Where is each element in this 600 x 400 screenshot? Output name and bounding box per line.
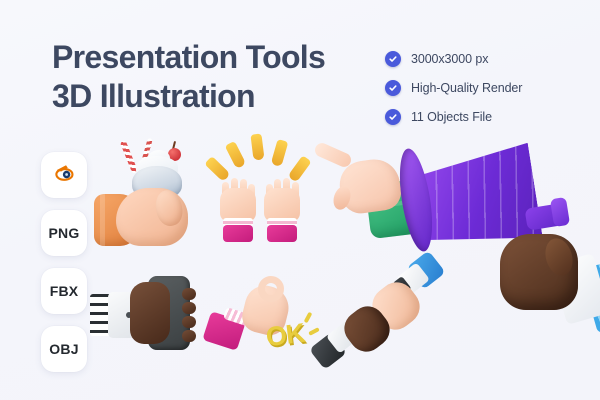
feature-label: 3000x3000 px: [411, 52, 488, 66]
poster-canvas: Presentation Tools 3D Illustration 3000x…: [0, 0, 600, 400]
illustration-grid: OK: [0, 120, 600, 390]
pink-cuff: [267, 225, 297, 242]
spark-icon: [308, 327, 320, 336]
page-title: Presentation Tools 3D Illustration: [52, 38, 325, 116]
feature-item-resolution: 3000x3000 px: [385, 46, 522, 71]
check-icon: [385, 51, 401, 67]
illustration-hand-holding-phone: [96, 270, 212, 366]
feature-item-quality: High-Quality Render: [385, 75, 522, 100]
ok-label: OK: [264, 318, 306, 353]
right-raised-hand: [264, 178, 300, 234]
pink-cuff: [223, 225, 253, 242]
palm: [220, 188, 256, 222]
finger: [182, 302, 196, 314]
illustration-ok-hand: OK: [208, 272, 324, 366]
palm: [264, 188, 300, 222]
finger: [182, 330, 196, 342]
illustration-hand-holding-sundae: [96, 138, 208, 260]
illustration-fist-bump: [322, 260, 434, 368]
celebration-ray-icon: [250, 133, 264, 160]
index-finger: [313, 141, 353, 169]
title-line-2: 3D Illustration: [52, 77, 325, 116]
finger: [182, 288, 196, 300]
title-line-1: Presentation Tools: [52, 38, 325, 77]
spark-icon: [304, 312, 313, 324]
finger: [182, 316, 196, 328]
hand: [130, 282, 170, 344]
celebration-ray-icon: [225, 141, 247, 169]
megaphone-cap: [550, 197, 570, 227]
celebration-ray-icon: [271, 139, 289, 167]
check-icon: [385, 80, 401, 96]
illustration-raising-hands: [206, 134, 316, 258]
feature-label: High-Quality Render: [411, 81, 522, 95]
left-raised-hand: [220, 178, 256, 234]
